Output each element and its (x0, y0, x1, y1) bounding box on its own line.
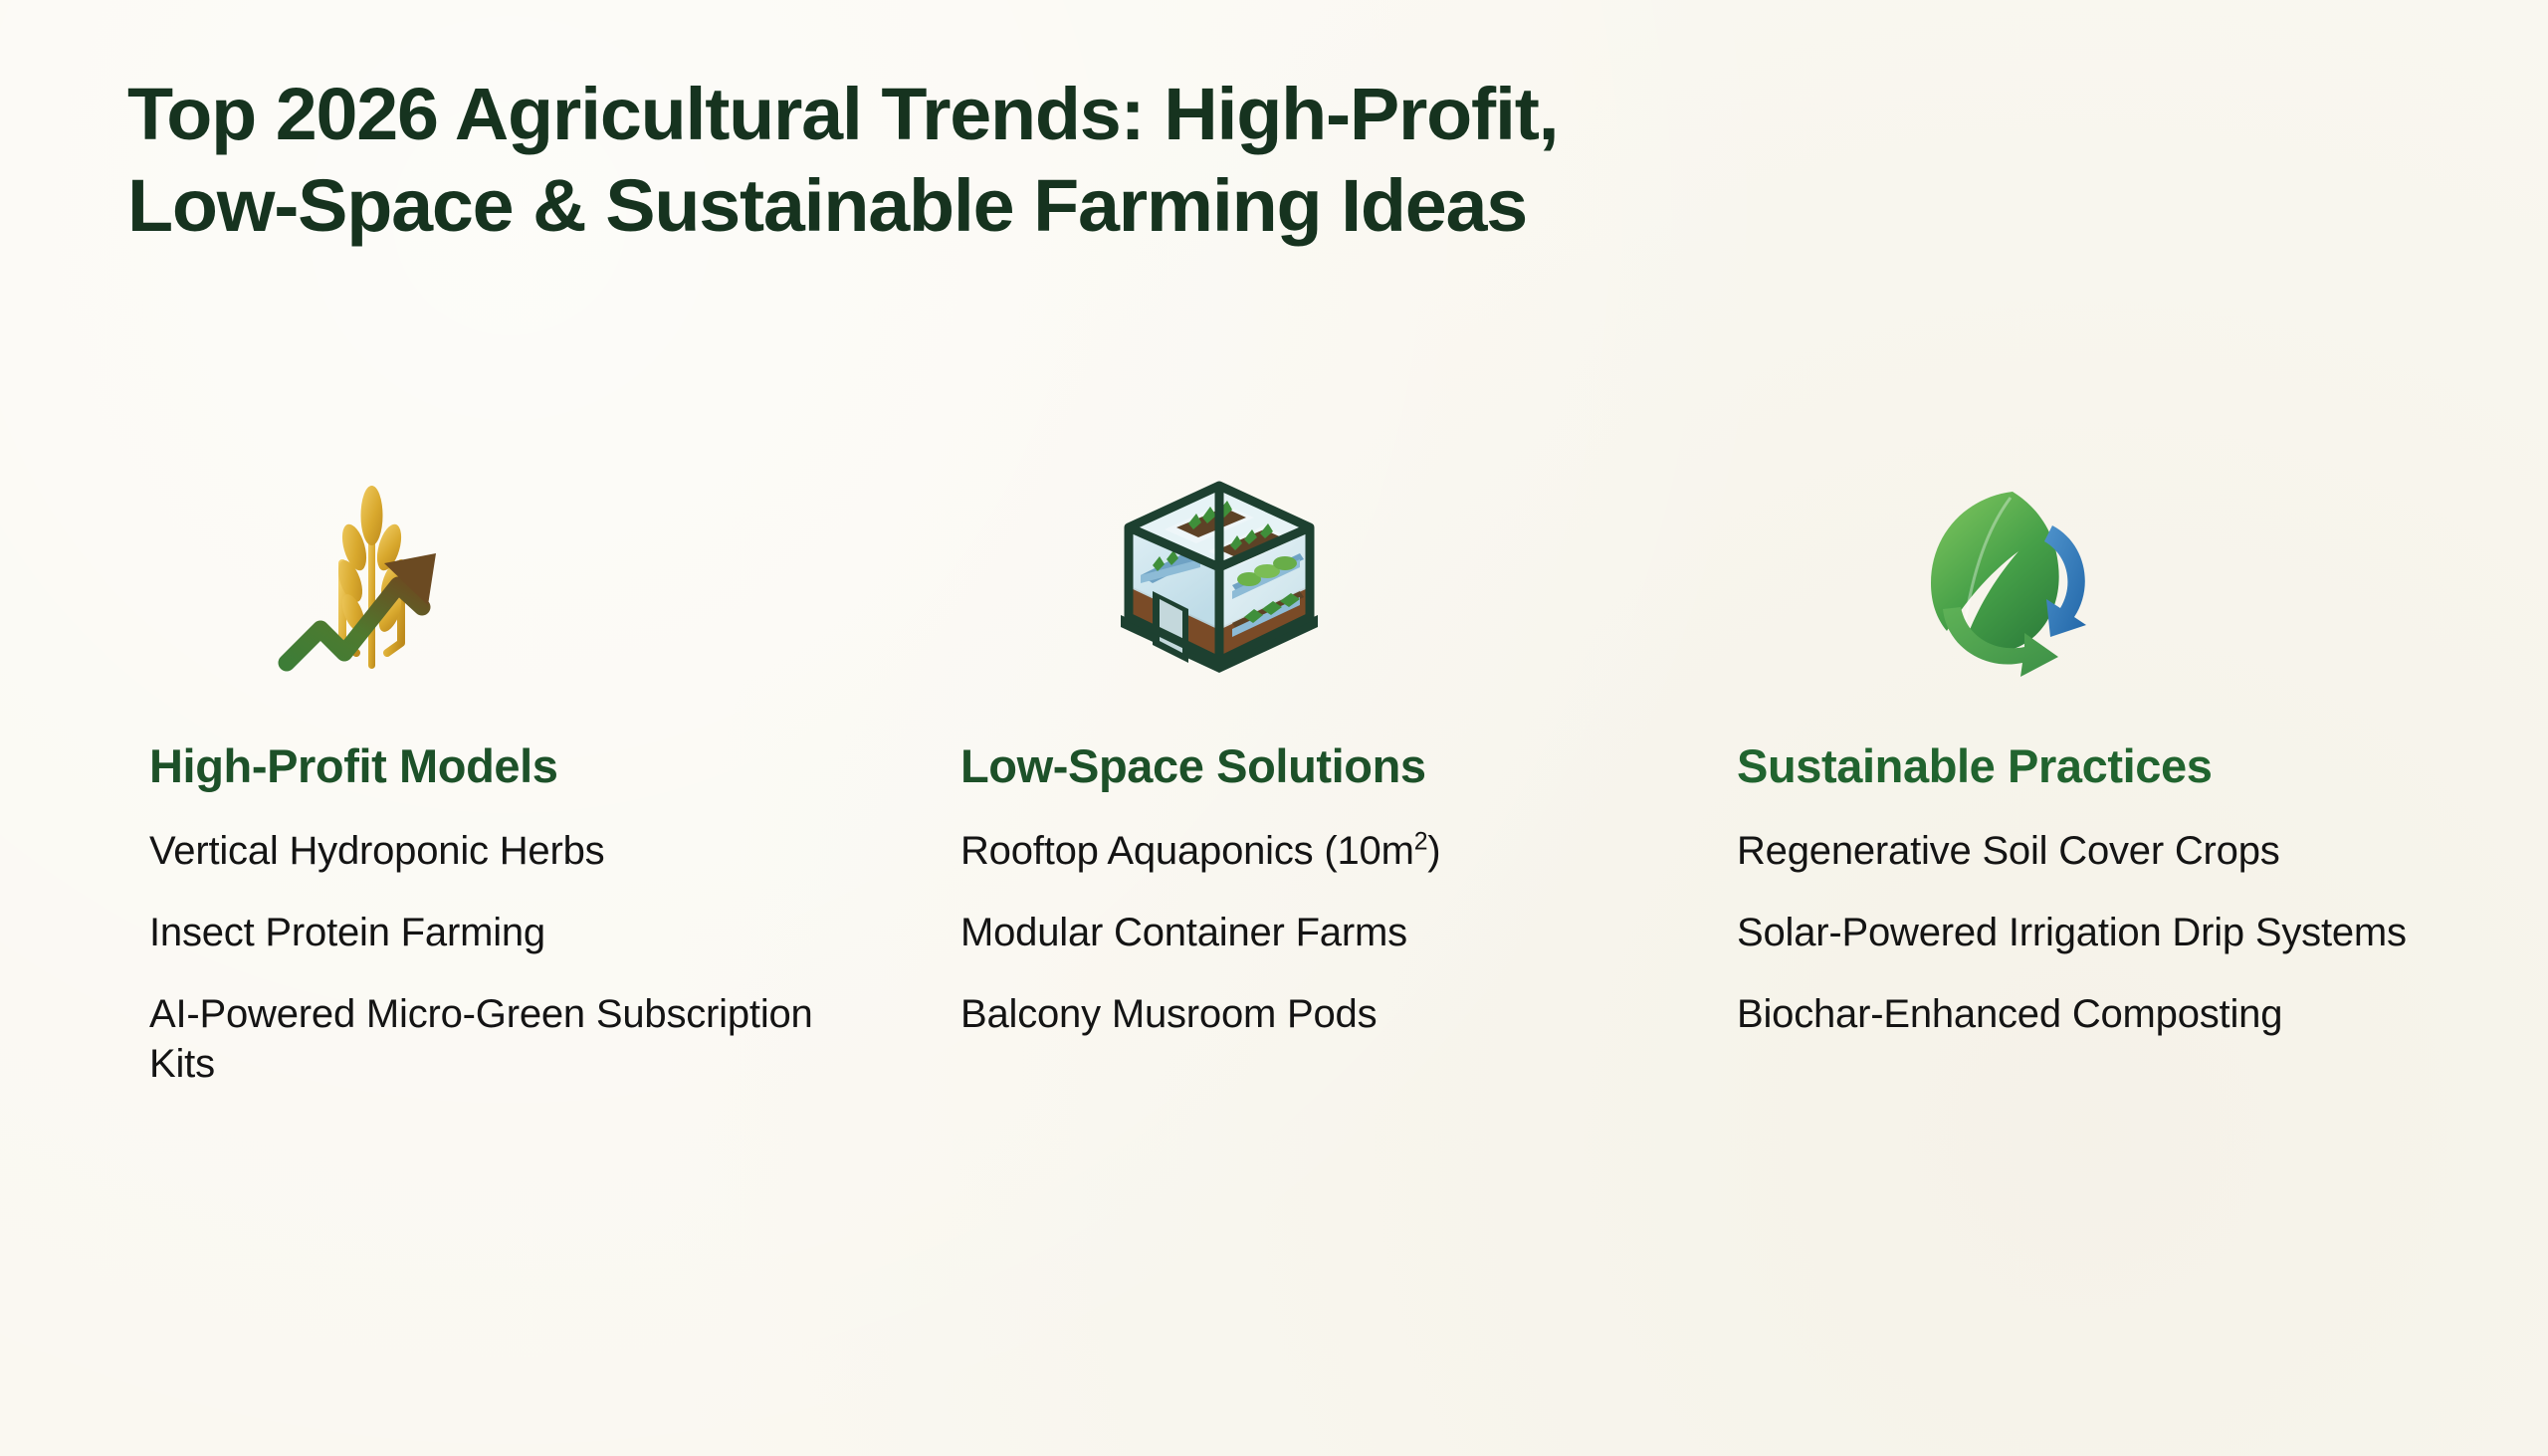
column-low-space-solutions: Low-Space Solutions Rooftop Aquaponics (… (960, 468, 1657, 1039)
title-line-2: Low-Space & Sustainable Farming Ideas (127, 169, 2482, 243)
item-list: Regenerative Soil Cover Crops Solar-Powe… (1737, 826, 2493, 1039)
list-item: Modular Container Farms (960, 908, 1657, 957)
icon-slot (1737, 468, 2493, 697)
column-sustainable-practices: Sustainable Practices Regenerative Soil … (1737, 468, 2493, 1039)
isometric-greenhouse-icon (1105, 468, 1334, 697)
list-item: Rooftop Aquaponics (10m2) (960, 826, 1657, 876)
item-list: Vertical Hydroponic Herbs Insect Protein… (149, 826, 886, 1089)
list-item: Solar-Powered Irrigation Drip Systems (1737, 908, 2493, 957)
column-heading: High-Profit Models (149, 740, 886, 792)
list-item: Biochar-Enhanced Composting (1737, 989, 2493, 1039)
column-group: High-Profit Models Vertical Hydroponic H… (0, 468, 2548, 1363)
column-heading: Sustainable Practices (1737, 740, 2493, 792)
list-item: Insect Protein Farming (149, 908, 886, 957)
list-item: Vertical Hydroponic Herbs (149, 826, 886, 876)
superscript-two: 2 (1414, 829, 1428, 856)
list-item: Regenerative Soil Cover Crops (1737, 826, 2493, 876)
icon-slot (149, 468, 886, 697)
column-high-profit-models: High-Profit Models Vertical Hydroponic H… (149, 468, 886, 1089)
page-title: Top 2026 Agricultural Trends: High-Profi… (127, 78, 2437, 243)
column-heading: Low-Space Solutions (960, 740, 1657, 792)
title-line-1: Top 2026 Agricultural Trends: High-Profi… (127, 78, 2482, 151)
wheat-growth-arrow-icon (259, 468, 488, 697)
icon-slot (960, 468, 1657, 697)
leaf-recycle-icon (1891, 468, 2120, 697)
list-item: Balcony Musroom Pods (960, 989, 1657, 1039)
item-list: Rooftop Aquaponics (10m2) Modular Contai… (960, 826, 1657, 1039)
list-item: AI-Powered Micro-Green Subscription Kits (149, 989, 886, 1089)
infographic-poster: Top 2026 Agricultural Trends: High-Profi… (0, 0, 2548, 1456)
